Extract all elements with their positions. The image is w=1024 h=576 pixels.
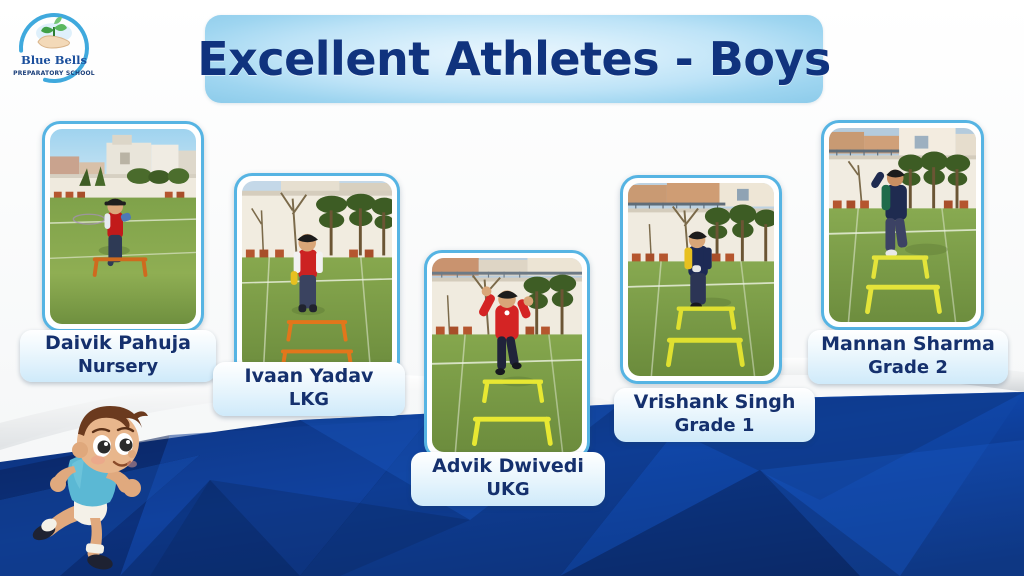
athlete-photo-2-image <box>242 181 392 371</box>
athlete-photo-5[interactable] <box>821 120 984 330</box>
photo-2-graphic <box>242 181 392 371</box>
logo-leaf-top-icon <box>54 17 62 24</box>
mascot-pupil-right <box>120 439 133 452</box>
mascot-nose <box>128 450 136 458</box>
logo-title: Blue Bells <box>21 53 87 67</box>
slide-title-banner: Excellent Athletes - Boys <box>205 15 823 103</box>
athlete-photo-2[interactable] <box>234 173 400 379</box>
photo-3-graphic <box>432 258 582 452</box>
athlete-grade-2: LKG <box>289 389 329 411</box>
athlete-photo-3[interactable] <box>424 250 590 460</box>
logo-subtitle: PREPARATORY SCHOOL <box>13 70 95 77</box>
athlete-grade-3: UKG <box>486 479 529 501</box>
mascot-hair-tuft <box>134 411 148 420</box>
athlete-photo-4[interactable] <box>620 175 782 384</box>
school-logo: Blue Bells PREPARATORY SCHOOL <box>8 6 100 94</box>
athlete-photo-1-image <box>50 129 196 324</box>
athlete-grade-4: Grade 1 <box>675 415 755 437</box>
athlete-nameplate-1[interactable]: Daivik Pahuja Nursery <box>20 330 216 382</box>
photo-1-graphic <box>50 129 196 324</box>
athlete-name-3: Advik Dwivedi <box>432 456 584 477</box>
mascot-ear <box>72 442 88 458</box>
mascot-pupil-left <box>98 441 111 454</box>
athlete-name-2: Ivaan Yadav <box>245 366 374 387</box>
logo-ring <box>10 6 98 92</box>
athlete-grade-5: Grade 2 <box>868 357 948 379</box>
athlete-name-5: Mannan Sharma <box>821 334 995 355</box>
school-logo-graphic: Blue Bells PREPARATORY SCHOOL <box>8 6 100 94</box>
mascot-cheek-right <box>127 461 137 468</box>
athlete-photo-4-image <box>628 183 774 376</box>
athlete-photo-1[interactable] <box>42 121 204 332</box>
athlete-name-1: Daivik Pahuja <box>45 333 191 354</box>
running-boy-graphic <box>22 398 192 576</box>
athlete-nameplate-5[interactable]: Mannan Sharma Grade 2 <box>808 330 1008 384</box>
slide-canvas: Blue Bells PREPARATORY SCHOOL Excellent … <box>0 0 1024 576</box>
mascot-front-fist <box>123 479 141 497</box>
athlete-nameplate-3[interactable]: Advik Dwivedi UKG <box>411 452 605 506</box>
athlete-grade-1: Nursery <box>78 356 158 378</box>
athlete-name-4: Vrishank Singh <box>634 392 796 413</box>
running-boy-mascot <box>22 398 192 576</box>
photo-4-graphic <box>628 183 774 376</box>
athlete-nameplate-4[interactable]: Vrishank Singh Grade 1 <box>614 388 815 442</box>
athlete-photo-3-image <box>432 258 582 452</box>
athlete-nameplate-2[interactable]: Ivaan Yadav LKG <box>213 362 405 416</box>
athlete-photo-5-image <box>829 128 976 322</box>
mascot-cheek-left <box>91 456 105 465</box>
page-title: Excellent Athletes - Boys <box>197 32 831 86</box>
mascot-front-sock <box>86 543 105 554</box>
photo-5-graphic <box>829 128 976 322</box>
mascot-back-fist <box>50 476 66 492</box>
mascot-eye-glint-right <box>126 440 130 444</box>
mascot-eye-glint-left <box>104 442 108 446</box>
